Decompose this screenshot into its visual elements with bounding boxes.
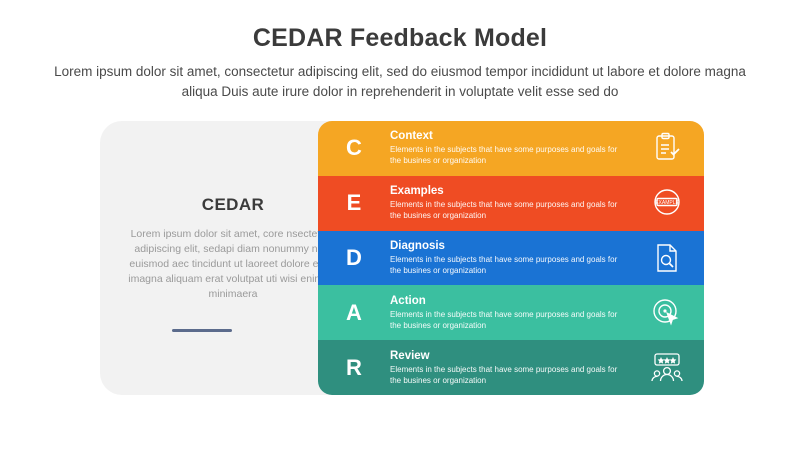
row-title: Review [390,350,622,362]
row-text: Context Elements in the subjects that ha… [390,130,630,166]
left-summary-content: CEDAR Lorem ipsum dolor sit amet, core n… [128,195,338,302]
left-summary-description: Lorem ipsum dolor sit amet, core nsectet… [128,227,338,302]
row-letter: C [318,135,390,161]
row-description: Elements in the subjects that have some … [390,254,622,276]
left-summary-divider [172,329,232,332]
row-title: Examples [390,185,622,197]
row-letter: A [318,300,390,326]
cedar-diagram: CEDAR Lorem ipsum dolor sit amet, core n… [100,121,704,395]
infographic-page: CEDAR Feedback Model Lorem ipsum dolor s… [0,0,800,450]
cedar-row-diagnosis[interactable]: D Diagnosis Elements in the subjects tha… [318,231,704,286]
cedar-row-examples[interactable]: E Examples Elements in the subjects that… [318,176,704,231]
row-title: Context [390,130,622,142]
svg-text:EXAMPLE: EXAMPLE [655,200,679,206]
row-letter: D [318,245,390,271]
row-description: Elements in the subjects that have some … [390,309,622,331]
left-summary-title: CEDAR [128,195,338,215]
clipboard-check-icon [630,131,704,165]
rating-people-icon [630,351,704,385]
row-text: Diagnosis Elements in the subjects that … [390,240,630,276]
row-letter: R [318,355,390,381]
row-title: Diagnosis [390,240,622,252]
page-subtitle: Lorem ipsum dolor sit amet, consectetur … [36,62,764,102]
row-letter: E [318,190,390,216]
row-title: Action [390,295,622,307]
cedar-row-context[interactable]: C Context Elements in the subjects that … [318,121,704,176]
page-title: CEDAR Feedback Model [0,24,800,53]
row-description: Elements in the subjects that have some … [390,199,622,221]
example-badge-icon: EXAMPLE [630,186,704,220]
target-click-icon [630,296,704,330]
row-text: Review Elements in the subjects that hav… [390,350,630,386]
row-description: Elements in the subjects that have some … [390,144,622,166]
row-description: Elements in the subjects that have some … [390,364,622,386]
cedar-row-action[interactable]: A Action Elements in the subjects that h… [318,285,704,340]
cedar-row-review[interactable]: R Review Elements in the subjects that h… [318,340,704,395]
row-text: Examples Elements in the subjects that h… [390,185,630,221]
cedar-rows: C Context Elements in the subjects that … [318,121,704,395]
document-search-icon [630,241,704,275]
row-text: Action Elements in the subjects that hav… [390,295,630,331]
